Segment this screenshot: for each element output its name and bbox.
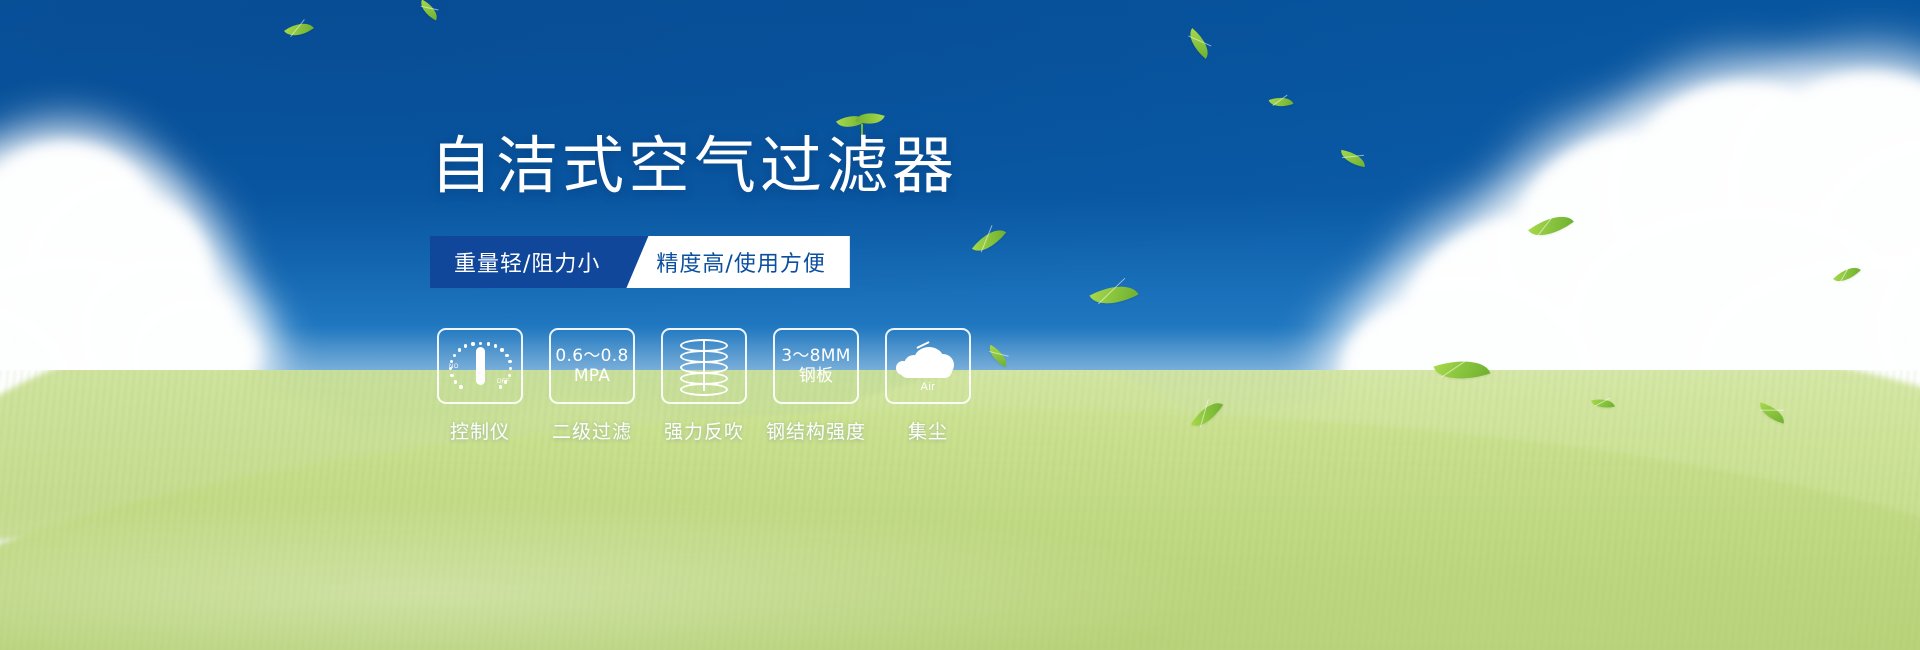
coil-blowback-icon xyxy=(678,337,730,395)
feature-label: 集尘 xyxy=(908,417,948,444)
subtitle-tabs: 重量轻/阻力小 精度高/使用方便 xyxy=(430,236,850,288)
page-title: 自洁式空气过滤器 xyxy=(430,135,958,197)
feature-box-dust[interactable]: Air xyxy=(885,328,971,404)
feature-box-controller[interactable]: NO OFF xyxy=(437,328,523,404)
tab-precision-convenience[interactable]: 精度高/使用方便 xyxy=(626,236,849,288)
steel-value-line2: 钢板 xyxy=(799,366,834,386)
pressure-value-line2: MPA xyxy=(574,366,610,386)
feature-box-steel[interactable]: 3～8MM 钢板 xyxy=(773,328,859,404)
feature-item[interactable]: 0.6～0.8 MPA 二级过滤 xyxy=(549,328,635,444)
feature-item[interactable]: NO OFF 控制仪 xyxy=(437,328,523,444)
tab-secondary-wrap: 精度高/使用方便 xyxy=(626,236,849,288)
feature-label: 控制仪 xyxy=(450,417,510,444)
dial-off-label: OFF xyxy=(497,379,510,385)
steel-value-line1: 3～8MM xyxy=(781,346,850,366)
tab-primary-label: 重量轻/阻力小 xyxy=(454,246,600,278)
dial-on-label: NO xyxy=(449,364,459,370)
feature-item[interactable]: 强力反吹 xyxy=(661,328,747,444)
feature-label: 二级过滤 xyxy=(552,417,632,444)
banner-content: 自洁式空气过滤器 重量轻/阻力小 精度高/使用方便 xyxy=(0,0,1920,650)
feature-list: NO OFF 控制仪 0.6～0.8 MPA 二级过滤 xyxy=(437,328,971,444)
feature-item[interactable]: Air 集尘 xyxy=(885,328,971,444)
air-label: Air xyxy=(896,381,960,393)
feature-box-blowback[interactable] xyxy=(661,328,747,404)
hero-banner: 自洁式空气过滤器 重量轻/阻力小 精度高/使用方便 xyxy=(0,0,1920,650)
feature-box-pressure[interactable]: 0.6～0.8 MPA xyxy=(549,328,635,404)
feature-label: 钢结构强度 xyxy=(766,417,866,444)
control-dial-icon: NO OFF xyxy=(449,338,511,394)
feature-item[interactable]: 3～8MM 钢板 钢结构强度 xyxy=(773,328,859,444)
feature-label: 强力反吹 xyxy=(664,417,744,444)
tab-secondary-label: 精度高/使用方便 xyxy=(656,246,825,278)
tab-weight-resistance[interactable]: 重量轻/阻力小 xyxy=(430,236,626,288)
air-cloud-icon: Air xyxy=(896,341,960,391)
pressure-value-line1: 0.6～0.8 xyxy=(555,346,628,366)
